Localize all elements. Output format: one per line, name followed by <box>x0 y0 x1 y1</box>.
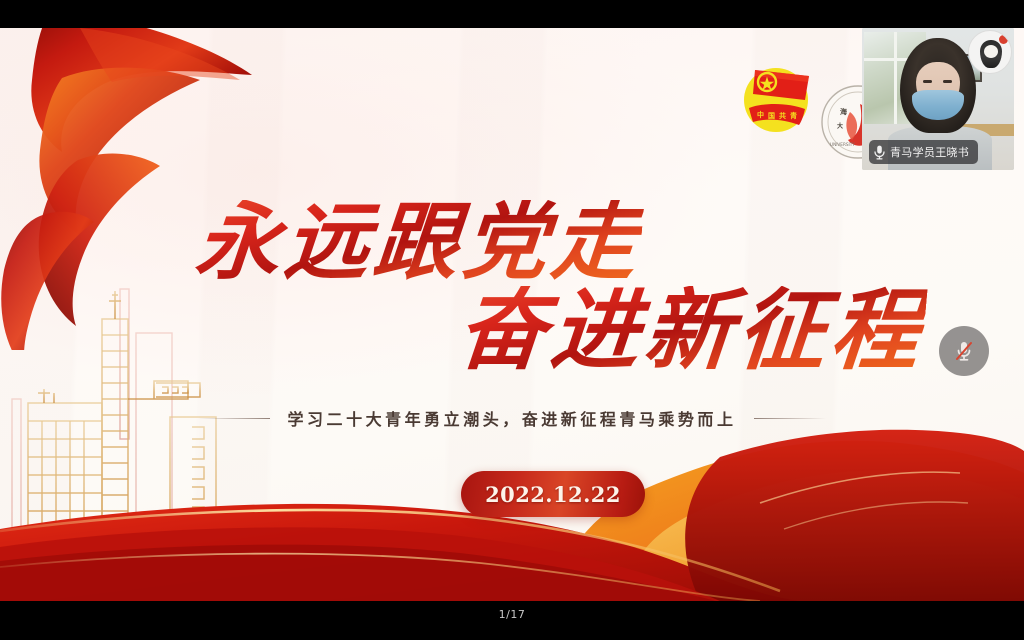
slide-subtitle-text: 学习二十大青年勇立潮头，奋进新征程青马乘势而上 <box>288 406 737 430</box>
corner-avatar-sticker <box>968 30 1012 74</box>
microphone-icon <box>874 145 885 160</box>
svg-text:青: 青 <box>790 111 797 120</box>
microphone-muted-icon <box>951 338 977 364</box>
svg-text:共: 共 <box>779 111 786 120</box>
svg-text:国: 国 <box>768 111 775 120</box>
screen-share-viewport: 中国共青 海 大 UNIVERSITY 永远跟党走 奋进新征程 学习二十大青年勇… <box>0 0 1024 640</box>
slide-page-indicator: 1/17 <box>0 608 1024 621</box>
participant-eye-left <box>923 80 932 83</box>
svg-text:海: 海 <box>840 107 847 116</box>
window-mullion-vertical <box>894 32 897 124</box>
participant-video-tile[interactable]: 青马学员王晓书 <box>862 28 1014 170</box>
svg-text:中: 中 <box>757 110 764 119</box>
letterbox-top <box>0 0 1024 28</box>
participant-name-text: 青马学员王晓书 <box>890 144 969 160</box>
svg-text:UNIVERSITY: UNIVERSITY <box>830 142 855 147</box>
slide-date-text: 2022.12.22 <box>485 482 621 507</box>
slide-subtitle-row: 学习二十大青年勇立潮头，奋进新征程青马乘势而上 <box>0 406 1024 430</box>
svg-text:大: 大 <box>837 122 843 130</box>
slide-date-badge: 2022.12.22 <box>461 471 645 517</box>
sticker-face <box>984 45 998 58</box>
subtitle-rule-left <box>198 418 270 419</box>
subtitle-rule-right <box>754 418 826 419</box>
communist-youth-league-emblem: 中国共青 <box>735 56 817 138</box>
participant-eye-right <box>943 80 952 83</box>
microphone-mute-button[interactable] <box>939 326 989 376</box>
participant-name-chip: 青马学员王晓书 <box>869 140 978 164</box>
slide-headline-line2: 奋进新征程 <box>458 286 924 374</box>
headline-line2-text: 奋进新征程 <box>454 286 928 374</box>
sticker-badge-dot <box>999 35 1008 44</box>
